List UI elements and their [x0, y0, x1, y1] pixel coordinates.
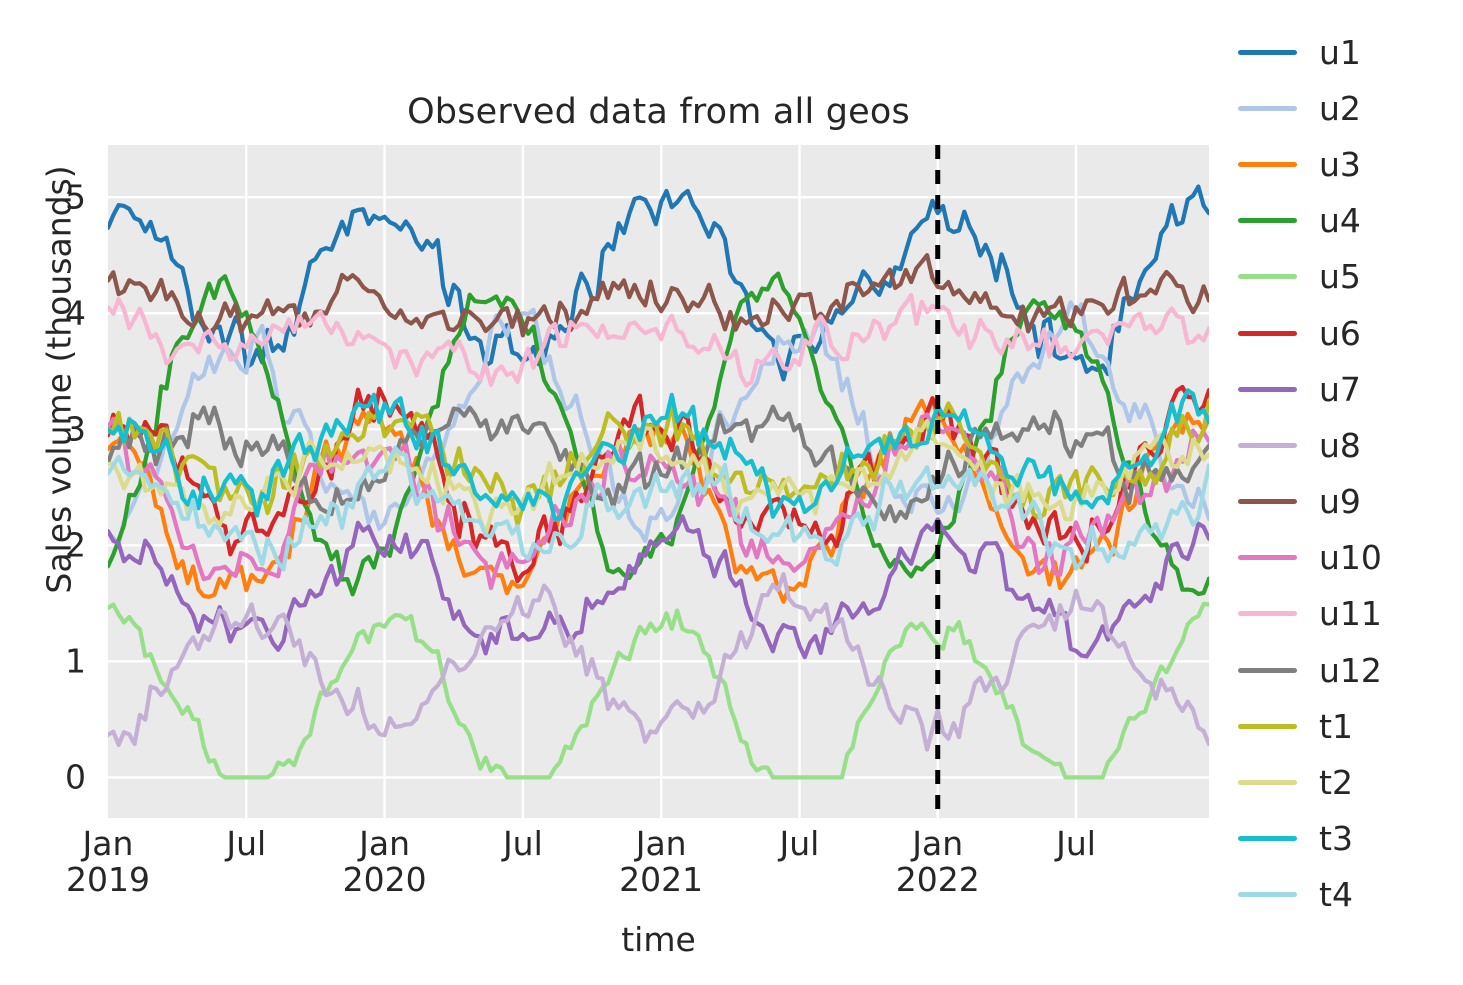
- legend-swatch-u10: [1238, 555, 1297, 560]
- legend-label: u2: [1319, 92, 1361, 125]
- legend-item-u6[interactable]: u6: [1238, 305, 1453, 361]
- legend-item-u10[interactable]: u10: [1238, 530, 1453, 586]
- legend-swatch-u7: [1238, 387, 1297, 392]
- legend-item-t1[interactable]: t1: [1238, 698, 1453, 754]
- legend-item-u11[interactable]: u11: [1238, 586, 1453, 642]
- legend-swatch-u4: [1238, 218, 1297, 223]
- legend-label: t2: [1319, 766, 1353, 799]
- x-tick-label: Jan2022: [896, 826, 980, 897]
- legend-swatch-t3: [1238, 836, 1297, 841]
- x-axis-label: time: [108, 920, 1209, 959]
- legend-label: u12: [1319, 654, 1382, 687]
- legend-label: u9: [1319, 485, 1361, 518]
- legend-swatch-u3: [1238, 162, 1297, 167]
- legend-label: u8: [1319, 429, 1361, 462]
- legend-label: t4: [1319, 878, 1353, 911]
- legend-swatch-t4: [1238, 892, 1297, 897]
- legend-swatch-t1: [1238, 724, 1297, 729]
- legend-swatch-t2: [1238, 780, 1297, 785]
- legend-label: u7: [1319, 373, 1361, 406]
- legend-swatch-u11: [1238, 611, 1297, 616]
- chart-figure: Observed data from all geos Sales volume…: [0, 0, 1463, 985]
- legend-item-u9[interactable]: u9: [1238, 474, 1453, 530]
- x-tick-label: Jul: [1056, 826, 1096, 862]
- legend-label: u6: [1319, 317, 1361, 350]
- legend-swatch-u8: [1238, 443, 1297, 448]
- legend-label: t1: [1319, 710, 1353, 743]
- legend-swatch-u5: [1238, 274, 1297, 279]
- legend-label: u4: [1319, 204, 1361, 237]
- x-tick-label: Jan2021: [619, 826, 703, 897]
- legend-label: u3: [1319, 148, 1361, 181]
- legend-swatch-u1: [1238, 50, 1297, 55]
- legend-swatch-u12: [1238, 668, 1297, 673]
- legend-label: u11: [1319, 597, 1382, 630]
- legend-label: t3: [1319, 822, 1353, 855]
- legend-item-t2[interactable]: t2: [1238, 754, 1453, 810]
- y-tick-label: 2: [26, 526, 86, 565]
- y-tick-label: 0: [26, 758, 86, 797]
- legend-label: u10: [1319, 541, 1382, 574]
- legend-swatch-u9: [1238, 499, 1297, 504]
- legend-label: u1: [1319, 36, 1361, 69]
- x-tick-label: Jul: [226, 826, 266, 862]
- y-tick-label: 5: [26, 178, 86, 217]
- y-tick-label: 4: [26, 294, 86, 333]
- legend-swatch-u6: [1238, 331, 1297, 336]
- y-tick-label: 3: [26, 410, 86, 449]
- chart-title: Observed data from all geos: [108, 92, 1209, 132]
- legend-label: u5: [1319, 260, 1361, 293]
- series-canvas: [108, 145, 1209, 818]
- legend-item-u7[interactable]: u7: [1238, 361, 1453, 417]
- legend-item-u2[interactable]: u2: [1238, 80, 1453, 136]
- legend-item-u4[interactable]: u4: [1238, 193, 1453, 249]
- legend-item-u3[interactable]: u3: [1238, 136, 1453, 192]
- legend: u1u2u3u4u5u6u7u8u9u10u11u12t1t2t3t4: [1238, 24, 1453, 923]
- legend-item-u5[interactable]: u5: [1238, 249, 1453, 305]
- y-axis-label: Sales volume (thousands): [40, 40, 79, 720]
- x-tick-label: Jan2019: [66, 826, 150, 897]
- x-tick-label: Jul: [780, 826, 820, 862]
- legend-item-u1[interactable]: u1: [1238, 24, 1453, 80]
- y-tick-label: 1: [26, 642, 86, 681]
- legend-item-t3[interactable]: t3: [1238, 811, 1453, 867]
- plot-area: [108, 145, 1209, 818]
- legend-swatch-u2: [1238, 106, 1297, 111]
- legend-item-t4[interactable]: t4: [1238, 867, 1453, 923]
- x-tick-label: Jan2020: [343, 826, 427, 897]
- legend-item-u8[interactable]: u8: [1238, 417, 1453, 473]
- x-tick-label: Jul: [503, 826, 543, 862]
- legend-item-u12[interactable]: u12: [1238, 642, 1453, 698]
